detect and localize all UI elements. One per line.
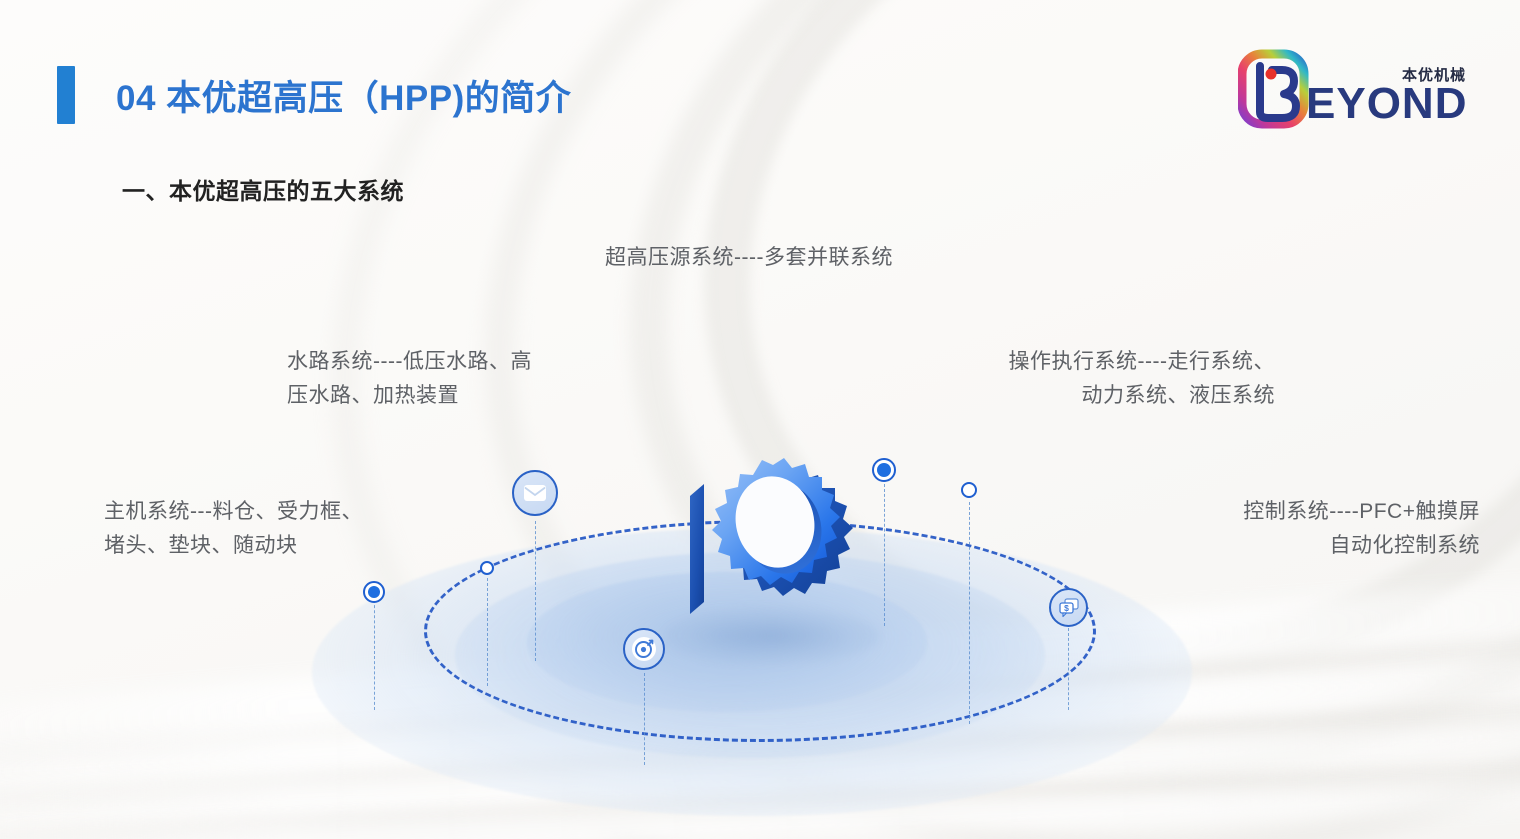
chat-money-icon: $: [1049, 588, 1088, 627]
gear-graphic: [664, 452, 860, 648]
marker-drop-line: [644, 673, 645, 765]
marker-drop-line: [487, 578, 488, 686]
central-graphic: $: [0, 0, 1520, 839]
hollow-dot-icon: [961, 482, 977, 498]
target-icon: [623, 628, 665, 670]
marker-drop-line: [535, 521, 536, 661]
chat-money-glyph: $: [1057, 597, 1081, 619]
target-glyph: [631, 636, 657, 662]
marker-drop-line: [969, 502, 970, 724]
svg-text:$: $: [1064, 603, 1069, 613]
filled-dot-center: [368, 586, 380, 598]
hollow-dot-icon: [480, 561, 494, 575]
envelope-icon: [512, 470, 558, 516]
filled-dot-center: [877, 463, 891, 477]
slide-canvas: 04 本优超高压（HPP)的简介 一、本优超高压的五大系统: [0, 0, 1520, 839]
gear-icon: [664, 452, 860, 648]
marker-drop-line: [884, 484, 885, 626]
marker-drop-line: [374, 600, 375, 710]
marker-drop-line: [1068, 628, 1069, 710]
envelope-glyph: [523, 483, 547, 503]
